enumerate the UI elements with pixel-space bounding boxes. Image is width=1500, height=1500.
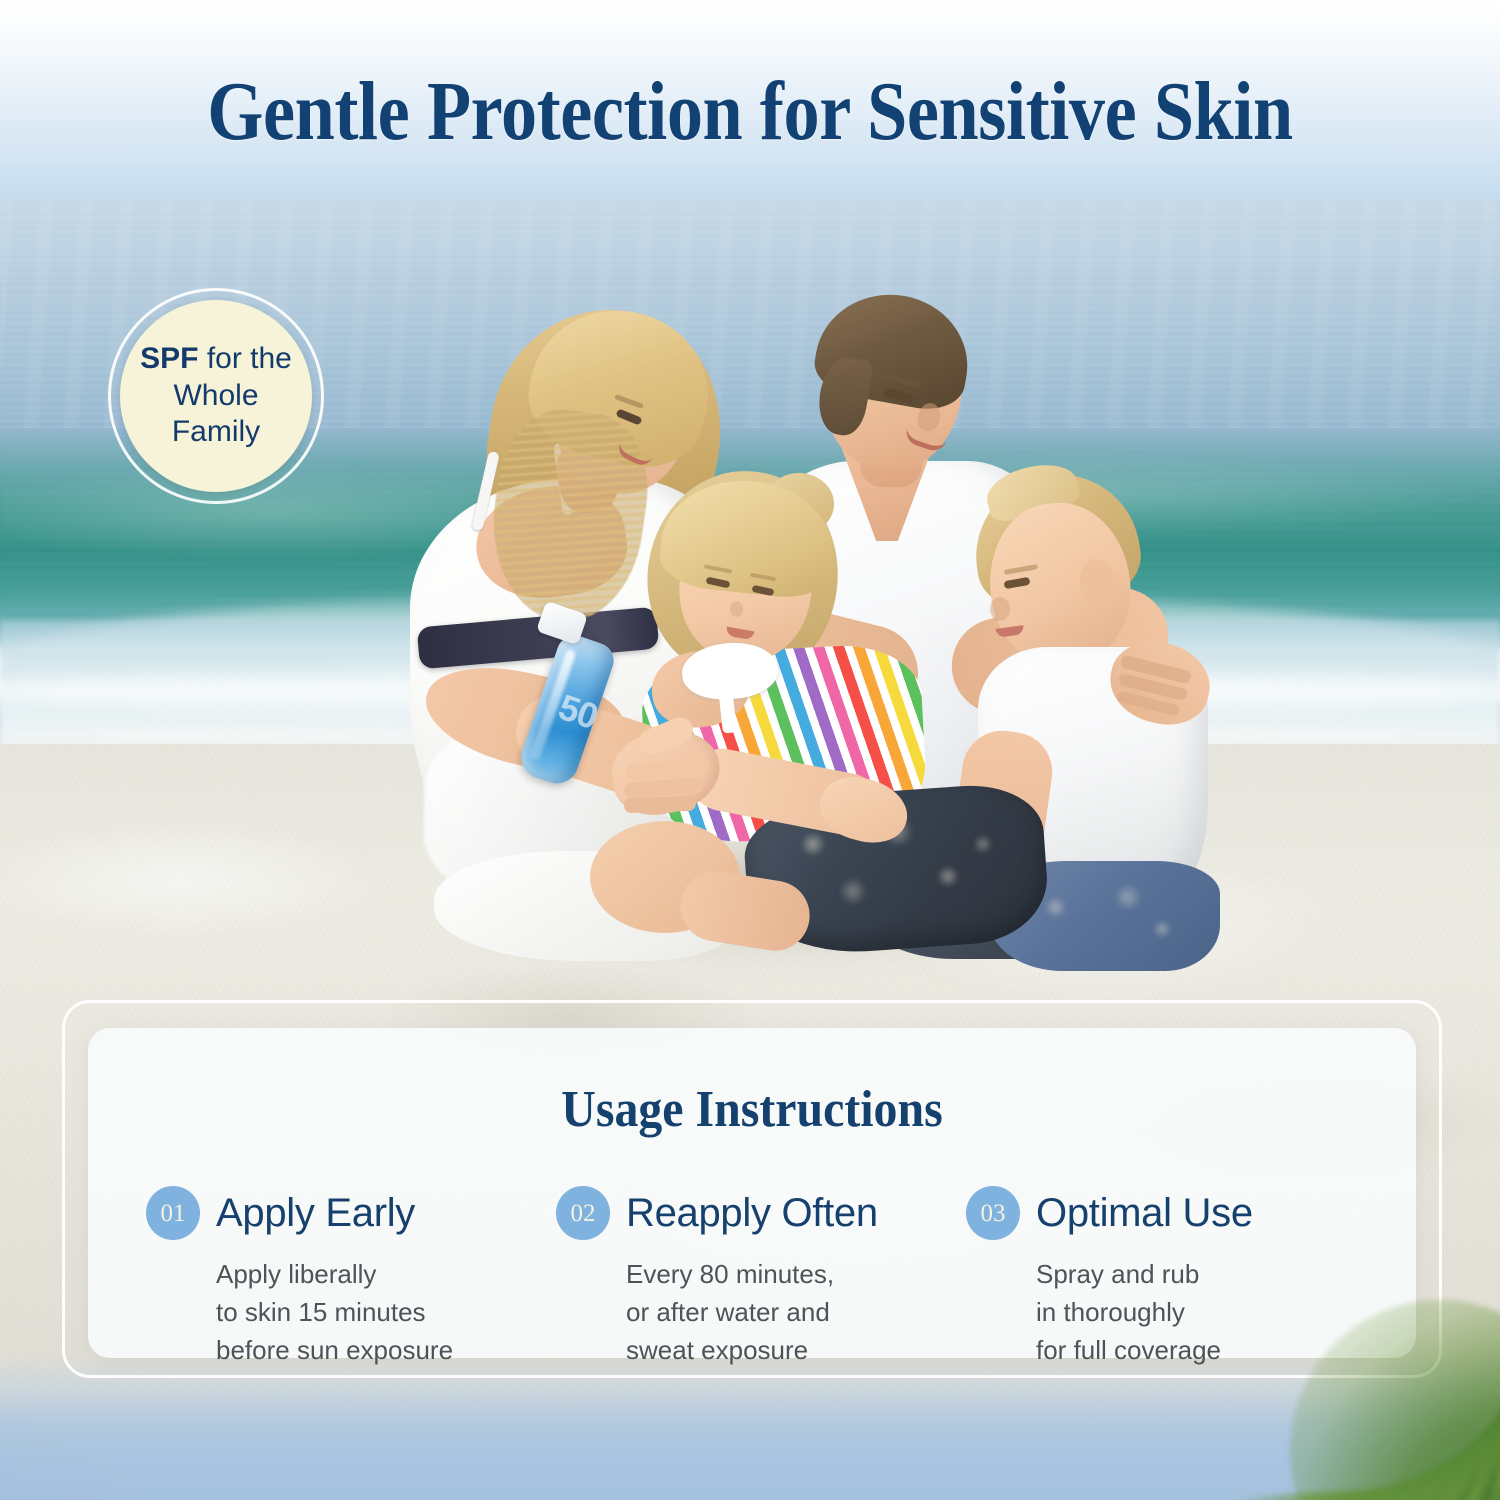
usage-instructions-panel: Usage Instructions 01 Apply Early Apply …	[88, 1028, 1416, 1358]
spf-badge: SPF for the Whole Family	[108, 288, 324, 504]
usage-step-01: 01 Apply Early Apply liberally to skin 1…	[146, 1186, 556, 1370]
step-title-01: Apply Early	[216, 1191, 415, 1236]
page-title: Gentle Protection for Sensitive Skin	[105, 70, 1395, 154]
step-title-03: Optimal Use	[1036, 1191, 1253, 1236]
step-number-badge-02: 02	[556, 1186, 610, 1240]
step-body-03: Spray and rub in thoroughly for full cov…	[1036, 1256, 1376, 1370]
spf-badge-disc: SPF for the Whole Family	[120, 300, 312, 492]
girl-nose	[730, 601, 743, 617]
step-number-badge-03: 03	[966, 1186, 1020, 1240]
step-title-02: Reapply Often	[626, 1191, 878, 1236]
poster-root: 50 Gentle Protection for Sensitive Skin …	[0, 0, 1500, 1500]
usage-step-02: 02 Reapply Often Every 80 minutes, or af…	[556, 1186, 966, 1370]
spf-badge-emphasis: SPF	[140, 342, 198, 375]
mother-finger-ring	[624, 796, 696, 814]
usage-panel-title: Usage Instructions	[141, 1080, 1363, 1139]
usage-steps-row: 01 Apply Early Apply liberally to skin 1…	[146, 1186, 1376, 1370]
family-group: 50	[390, 291, 1180, 951]
step-body-02: Every 80 minutes, or after water and swe…	[626, 1256, 966, 1370]
boy-nose	[990, 597, 1010, 621]
step-body-01: Apply liberally to skin 15 minutes befor…	[216, 1256, 556, 1370]
step-number-badge-01: 01	[146, 1186, 200, 1240]
usage-step-03: 03 Optimal Use Spray and rub in thorough…	[966, 1186, 1376, 1370]
usage-step-03-head: 03 Optimal Use	[966, 1186, 1376, 1240]
spf-badge-text: SPF for the Whole Family	[120, 341, 312, 451]
usage-step-01-head: 01 Apply Early	[146, 1186, 556, 1240]
usage-step-02-head: 02 Reapply Often	[556, 1186, 966, 1240]
